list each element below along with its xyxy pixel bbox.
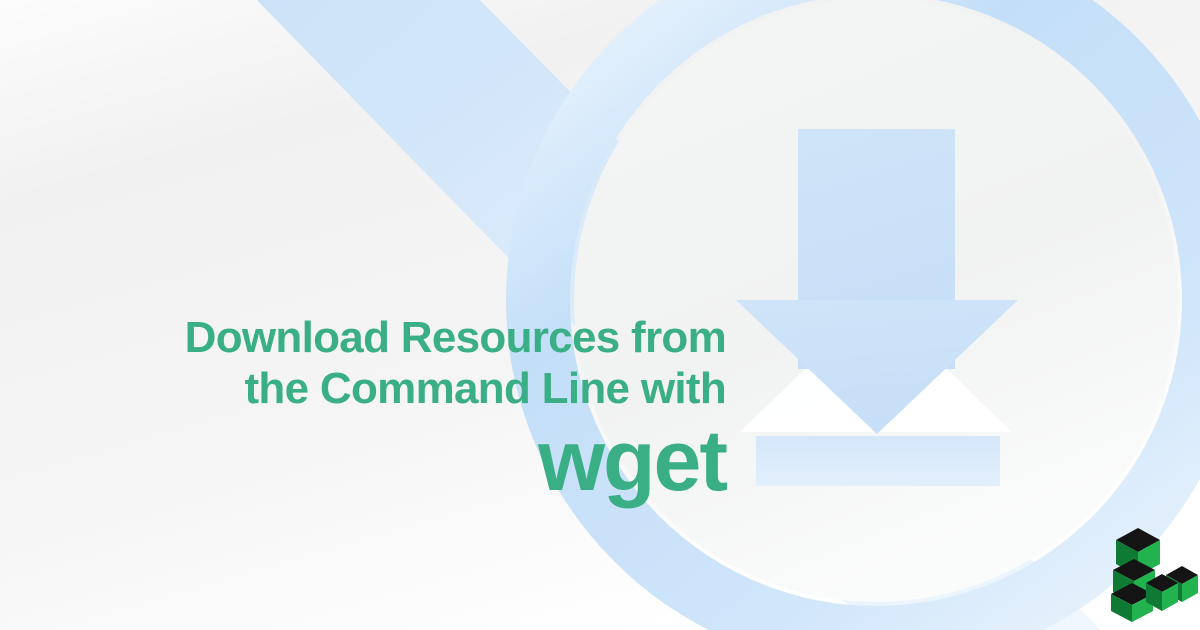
headline-keyword-wget: wget [0, 418, 726, 503]
isometric-cubes-logo[interactable] [1108, 518, 1200, 622]
headline-line-2: the Command Line with [0, 367, 726, 418]
banner-canvas: Download Resources from the Command Line… [0, 0, 1200, 630]
headline-line-1: Download Resources from [0, 316, 726, 367]
headline-block: Download Resources from the Command Line… [0, 316, 726, 503]
